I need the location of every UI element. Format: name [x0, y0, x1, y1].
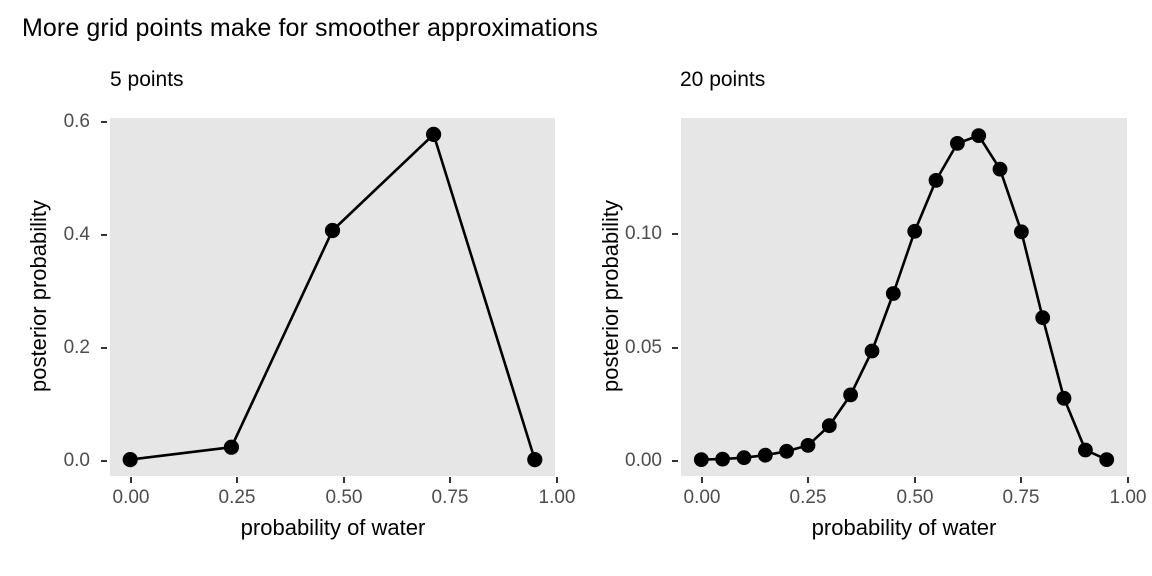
- facet-left-xtick-mark-3: [449, 477, 451, 483]
- facet-right-data-point: [865, 344, 880, 359]
- facet-right-xtick-label-0: 0.00: [684, 487, 721, 509]
- facet-left-xtick-mark-1: [236, 477, 238, 483]
- facet-right-data-point: [758, 448, 773, 463]
- facet-left-x-axis-title: probability of water: [241, 515, 426, 541]
- facet-right-ytick-mark-2: [672, 460, 678, 462]
- facet-left-xtick-label-0: 0.00: [113, 487, 150, 509]
- facet-left-xtick-label-2: 0.50: [326, 487, 363, 509]
- facet-right-xtick-label-4: 1.00: [1110, 487, 1147, 509]
- facet-right-data-point: [694, 452, 709, 467]
- facet-left-data-point: [325, 223, 340, 238]
- facet-right-data-point: [1014, 224, 1029, 239]
- facet-right-data-point: [993, 162, 1008, 177]
- facet-right-data-point: [907, 224, 922, 239]
- facet-left-ytick-label-1: 0.4: [38, 224, 90, 246]
- facet-left-title: 5 points: [110, 68, 184, 92]
- facet-right-ytick-label-2: 0.00: [600, 450, 662, 472]
- facet-left-xtick-label-3: 0.75: [432, 487, 469, 509]
- facet-right-xtick-mark-1: [807, 477, 809, 483]
- facet-right-x-axis-title: probability of water: [812, 515, 997, 541]
- facet-right-data-point: [929, 173, 944, 188]
- facet-right-xtick-mark-0: [701, 477, 703, 483]
- figure-root: More grid points make for smoother appro…: [0, 0, 1152, 576]
- facet-right-data-point: [779, 444, 794, 459]
- facet-left-plot: [110, 118, 555, 476]
- facet-right-plot: [681, 118, 1127, 476]
- facet-left-panel: [110, 118, 555, 476]
- facet-right-xtick-label-2: 0.50: [897, 487, 934, 509]
- facet-right-data-point: [886, 286, 901, 301]
- facet-right-xtick-mark-2: [914, 477, 916, 483]
- facet-right-ytick-label-0: 0.10: [600, 223, 662, 245]
- facet-right-data-point: [1035, 310, 1050, 325]
- facet-right-data-point: [715, 452, 730, 467]
- facet-left-data-point: [426, 127, 441, 142]
- facet-left-data-point: [224, 440, 239, 455]
- facet-right-data-point: [737, 450, 752, 465]
- facet-right-xtick-label-3: 0.75: [1003, 487, 1040, 509]
- facet-left-ytick-label-2: 0.2: [38, 337, 90, 359]
- facet-left-ytick-mark-2: [101, 347, 107, 349]
- facet-left-xtick-label-1: 0.25: [219, 487, 256, 509]
- facet-left-xtick-mark-2: [343, 477, 345, 483]
- facet-right-data-point: [822, 418, 837, 433]
- facet-left-ytick-label-0: 0.6: [38, 111, 90, 133]
- facet-right-data-line: [701, 136, 1106, 460]
- facet-right-ytick-mark-1: [672, 347, 678, 349]
- facet-left-data-line: [130, 134, 535, 459]
- facet-right-ytick-label-1: 0.05: [600, 337, 662, 359]
- facet-left-ytick-mark-3: [101, 460, 107, 462]
- facet-left-xtick-label-4: 1.00: [539, 487, 576, 509]
- facet-left: 5 points posterior probability 0.6 0.4 0…: [0, 0, 576, 576]
- facet-right-title: 20 points: [680, 68, 765, 92]
- facet-right: 20 points posterior probability 0.10 0.0…: [576, 0, 1152, 576]
- facet-right-data-point: [843, 388, 858, 403]
- facet-right-data-point: [1057, 391, 1072, 406]
- facet-right-data-point: [950, 136, 965, 151]
- facet-right-panel: [681, 118, 1127, 476]
- facet-left-xtick-mark-4: [556, 477, 558, 483]
- facet-left-ytick-label-3: 0.0: [38, 450, 90, 472]
- facet-right-data-point: [1099, 452, 1114, 467]
- facet-right-data-point: [801, 438, 816, 453]
- facet-right-ytick-mark-0: [672, 233, 678, 235]
- facet-right-xtick-label-1: 0.25: [790, 487, 827, 509]
- facet-left-ytick-mark-1: [101, 234, 107, 236]
- facet-left-data-point: [527, 452, 542, 467]
- facet-left-data-point: [123, 452, 138, 467]
- facet-right-data-point: [971, 128, 986, 143]
- facet-right-xtick-mark-3: [1020, 477, 1022, 483]
- facet-left-ytick-mark-0: [101, 121, 107, 123]
- facet-right-xtick-mark-4: [1127, 477, 1129, 483]
- facet-right-data-point: [1078, 443, 1093, 458]
- facet-left-xtick-mark-0: [130, 477, 132, 483]
